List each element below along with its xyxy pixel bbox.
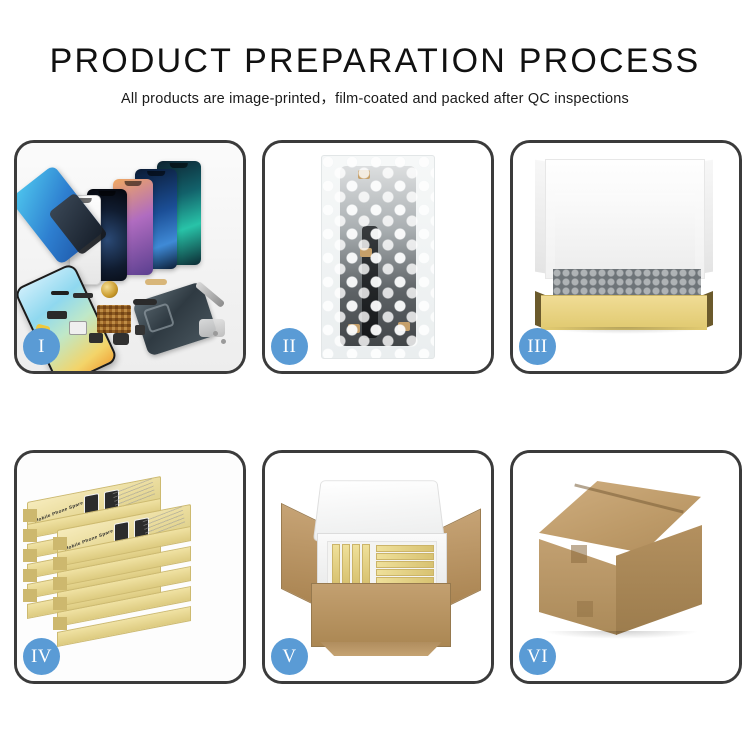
page-subtitle: All products are image-printed，film-coat… [0,80,750,108]
yellow-box-upright [332,544,340,584]
chip-part-icon [135,325,145,335]
box-side-face [23,569,37,582]
step-badge-6: VI [519,638,556,675]
bracket-part-icon [47,311,67,319]
box-side-face [53,557,67,570]
camera-part-icon [89,333,103,343]
carton-shadow [543,631,699,639]
yellow-box-upright [362,544,370,584]
process-step-panel-1[interactable]: I [14,140,246,374]
screw-icon [221,339,226,344]
hand-icon [199,319,225,337]
gold-flex-part-icon [145,279,167,285]
carton-body [311,583,451,647]
step-badge-3: III [519,328,556,365]
yellow-box-flat [376,569,434,576]
yellow-box-upright [352,544,360,584]
box-side-face [23,589,37,602]
sim-tray-part-icon [69,321,87,335]
carton-tape-mark [571,545,587,563]
flex-cable-part-icon [73,293,93,298]
process-step-grid: I II [0,136,750,682]
yellow-box-flat [376,545,434,552]
connector-part-icon [133,299,157,305]
step-badge-2: II [271,328,308,365]
box-side-face [53,577,67,590]
carton-tape-mark [577,601,593,617]
yellow-box-upright [342,544,350,584]
foam-box-interior [327,541,437,585]
box-side-face [23,529,37,542]
step-badge-4: IV [23,638,60,675]
box-side-face [23,549,37,562]
bubble-wrap-bag-icon [321,155,435,359]
foam-sheet-icon [555,193,695,271]
bubble-wrap-fill-icon [553,269,701,297]
speaker-part-icon [113,333,129,345]
step-badge-1: I [23,328,60,365]
yellow-box-front [541,295,707,330]
box-side-face [53,617,67,630]
process-step-panel-3[interactable]: III [510,140,742,374]
process-step-panel-6[interactable]: VI [510,450,742,684]
coil-part-icon [101,281,118,298]
process-step-panel-4[interactable]: Mobile Phone Spare Parts [14,450,246,684]
product-preparation-process-page: PRODUCT PREPARATION PROCESS All products… [0,0,750,750]
step-badge-5: V [271,638,308,675]
box-stack: Mobile Phone Spare Parts [23,471,237,665]
yellow-box-flat [376,561,434,568]
box-shadow [543,327,707,334]
bubble-texture-icon [322,156,434,358]
box-side-face [53,597,67,610]
process-step-panel-2[interactable]: II [262,140,494,374]
box-side-face [53,537,67,550]
header: PRODUCT PREPARATION PROCESS All products… [0,0,750,108]
yellow-box-flat [376,553,434,560]
bar-part-icon [51,291,69,295]
screw-grid-icon [97,305,131,333]
screw-icon [213,331,218,336]
process-step-panel-5[interactable]: V [262,450,494,684]
box-side-face [23,509,37,522]
page-title: PRODUCT PREPARATION PROCESS [0,0,750,80]
